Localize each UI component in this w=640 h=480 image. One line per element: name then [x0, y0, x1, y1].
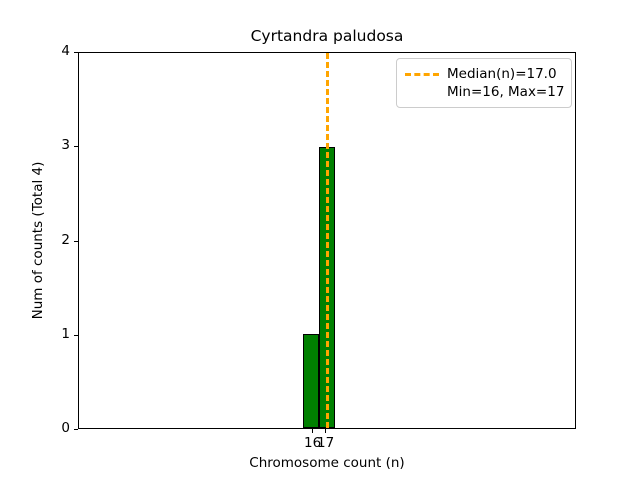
y-tick-label-3: 3: [56, 139, 70, 153]
y-tick-label-1: 1: [56, 328, 70, 342]
bar-16: [303, 334, 319, 428]
y-tick-label-0: 0: [56, 422, 70, 436]
legend-label-median: Median(n)=17.0: [447, 65, 557, 83]
x-axis-label: Chromosome count (n): [78, 455, 576, 471]
legend-row-median: Median(n)=17.0: [405, 65, 563, 83]
y-tick-label-4: 4: [56, 45, 70, 59]
x-tick-label-17: 17: [317, 436, 333, 451]
plot-inner: [79, 53, 575, 428]
plot-area: [78, 52, 576, 429]
median-line: [326, 53, 329, 428]
x-tick-mark-17: [325, 429, 326, 433]
legend: Median(n)=17.0 Min=16, Max=17: [396, 58, 572, 108]
legend-row-minmax: Min=16, Max=17: [405, 83, 563, 101]
y-tick-label-2: 2: [56, 234, 70, 248]
chart-title: Cyrtandra paludosa: [78, 27, 576, 46]
legend-dashed-line-icon: [405, 73, 439, 76]
x-tick-mark-16: [312, 429, 313, 433]
legend-label-minmax: Min=16, Max=17: [447, 83, 564, 101]
y-tick-mark-0: [74, 429, 78, 430]
y-axis-label: Num of counts (Total 4): [30, 52, 46, 429]
chart-figure: Cyrtandra paludosa Num of counts (Total …: [0, 0, 640, 480]
